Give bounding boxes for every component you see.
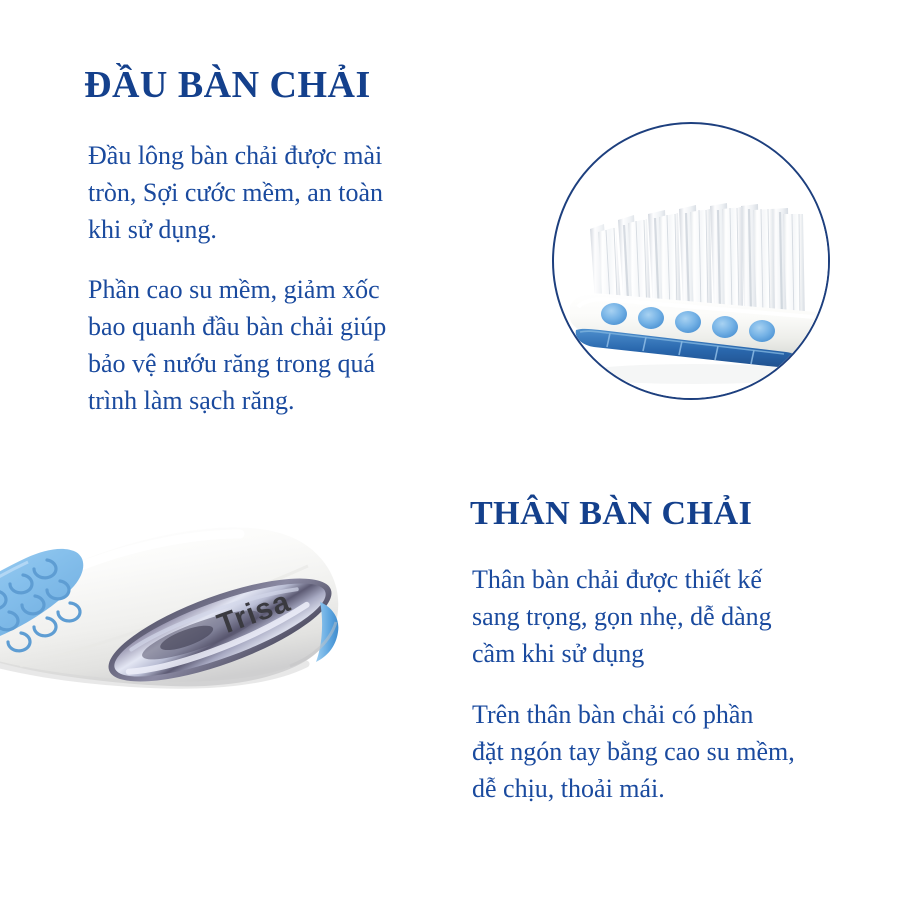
brush-head-illustration xyxy=(554,124,830,400)
product-feature-page: ĐẦU BÀN CHẢI Đầu lông bàn chải được mài … xyxy=(0,0,900,900)
section-title-brush-body: THÂN BÀN CHẢI xyxy=(470,497,752,531)
brush-head-photo xyxy=(552,122,830,400)
section-paragraph-brush-body-2: Trên thân bàn chải có phần đặt ngón tay … xyxy=(472,697,887,808)
section-paragraph-brush-head-2: Phần cao su mềm, giảm xốc bao quanh đầu … xyxy=(88,272,488,420)
brush-handle-photo: Trisa xyxy=(0,470,410,720)
section-title-brush-head: ĐẦU BÀN CHẢI xyxy=(84,66,371,104)
section-paragraph-brush-body-1: Thân bàn chải được thiết kế sang trọng, … xyxy=(472,562,882,673)
brush-handle-illustration: Trisa xyxy=(0,470,410,720)
brush-head-photo-inner xyxy=(554,124,828,398)
section-paragraph-brush-head-1: Đầu lông bàn chải được mài tròn, Sợi cướ… xyxy=(88,138,488,249)
